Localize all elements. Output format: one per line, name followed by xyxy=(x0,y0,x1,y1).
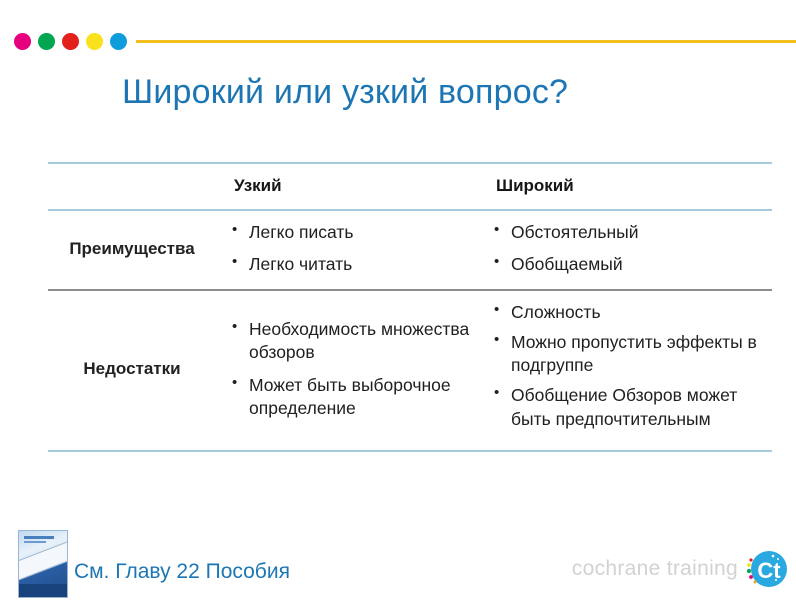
table-row: Преимущества Легко писать Легко читать О… xyxy=(48,210,772,290)
cochrane-logo-icon: Ct xyxy=(742,546,788,592)
cover-diagonal-band xyxy=(18,538,68,582)
dot-red-icon xyxy=(62,33,79,50)
bullet-list: Необходимость множества обзоров Может бы… xyxy=(224,318,484,420)
dot-yellow-icon xyxy=(86,33,103,50)
slide: Широкий или узкий вопрос? Узкий Широкий … xyxy=(0,0,796,600)
column-header-narrow: Узкий xyxy=(224,163,484,210)
list-item: Обобщаемый xyxy=(494,253,772,276)
dot-green-icon xyxy=(38,33,55,50)
list-item: Обобщение Обзоров может быть предпочтите… xyxy=(494,384,772,431)
list-item: Легко писать xyxy=(232,221,484,244)
list-item: Можно пропустить эффекты в подгруппе xyxy=(494,331,772,378)
table-header: Узкий Широкий xyxy=(48,163,772,210)
comparison-table: Узкий Широкий Преимущества Легко писать … xyxy=(48,162,772,452)
column-header-label xyxy=(48,163,224,210)
bullet-list: Обстоятельный Обобщаемый xyxy=(484,221,772,277)
cell-advantages-narrow: Легко писать Легко читать xyxy=(224,210,484,290)
bullet-list: Сложность Можно пропустить эффекты в под… xyxy=(484,301,772,431)
brand-lockup: cochrane training Ct xyxy=(572,546,788,592)
row-label-advantages: Преимущества xyxy=(48,210,224,290)
cell-disadvantages-narrow: Необходимость множества обзоров Может бы… xyxy=(224,290,484,451)
cover-subtitle-bar xyxy=(24,541,46,543)
cell-advantages-wide: Обстоятельный Обобщаемый xyxy=(484,210,772,290)
table-header-row: Узкий Широкий xyxy=(48,163,772,210)
list-item: Сложность xyxy=(494,301,772,324)
svg-text:Ct: Ct xyxy=(757,558,781,583)
footer-reference-note: См. Главу 22 Пособия xyxy=(74,560,290,584)
dot-blue-icon xyxy=(110,33,127,50)
cover-footer-band xyxy=(19,584,67,597)
list-item: Необходимость множества обзоров xyxy=(232,318,484,365)
table-row: Недостатки Необходимость множества обзор… xyxy=(48,290,772,451)
list-item: Может быть выборочное определение xyxy=(232,374,484,421)
page-title: Широкий или узкий вопрос? xyxy=(122,73,568,112)
column-header-wide: Широкий xyxy=(484,163,772,210)
list-item: Обстоятельный xyxy=(494,221,772,244)
handbook-cover-thumbnail xyxy=(18,530,68,598)
list-item: Легко читать xyxy=(232,253,484,276)
slide-header-decoration xyxy=(0,30,796,52)
gold-rule xyxy=(136,40,796,43)
cell-disadvantages-wide: Сложность Можно пропустить эффекты в под… xyxy=(484,290,772,451)
table-body: Преимущества Легко писать Легко читать О… xyxy=(48,210,772,451)
row-label-disadvantages: Недостатки xyxy=(48,290,224,451)
bullet-list: Легко писать Легко читать xyxy=(224,221,484,277)
dot-magenta-icon xyxy=(14,33,31,50)
brand-text: cochrane training xyxy=(572,557,738,581)
cover-title-bar xyxy=(24,536,54,539)
dot-row xyxy=(14,30,127,52)
